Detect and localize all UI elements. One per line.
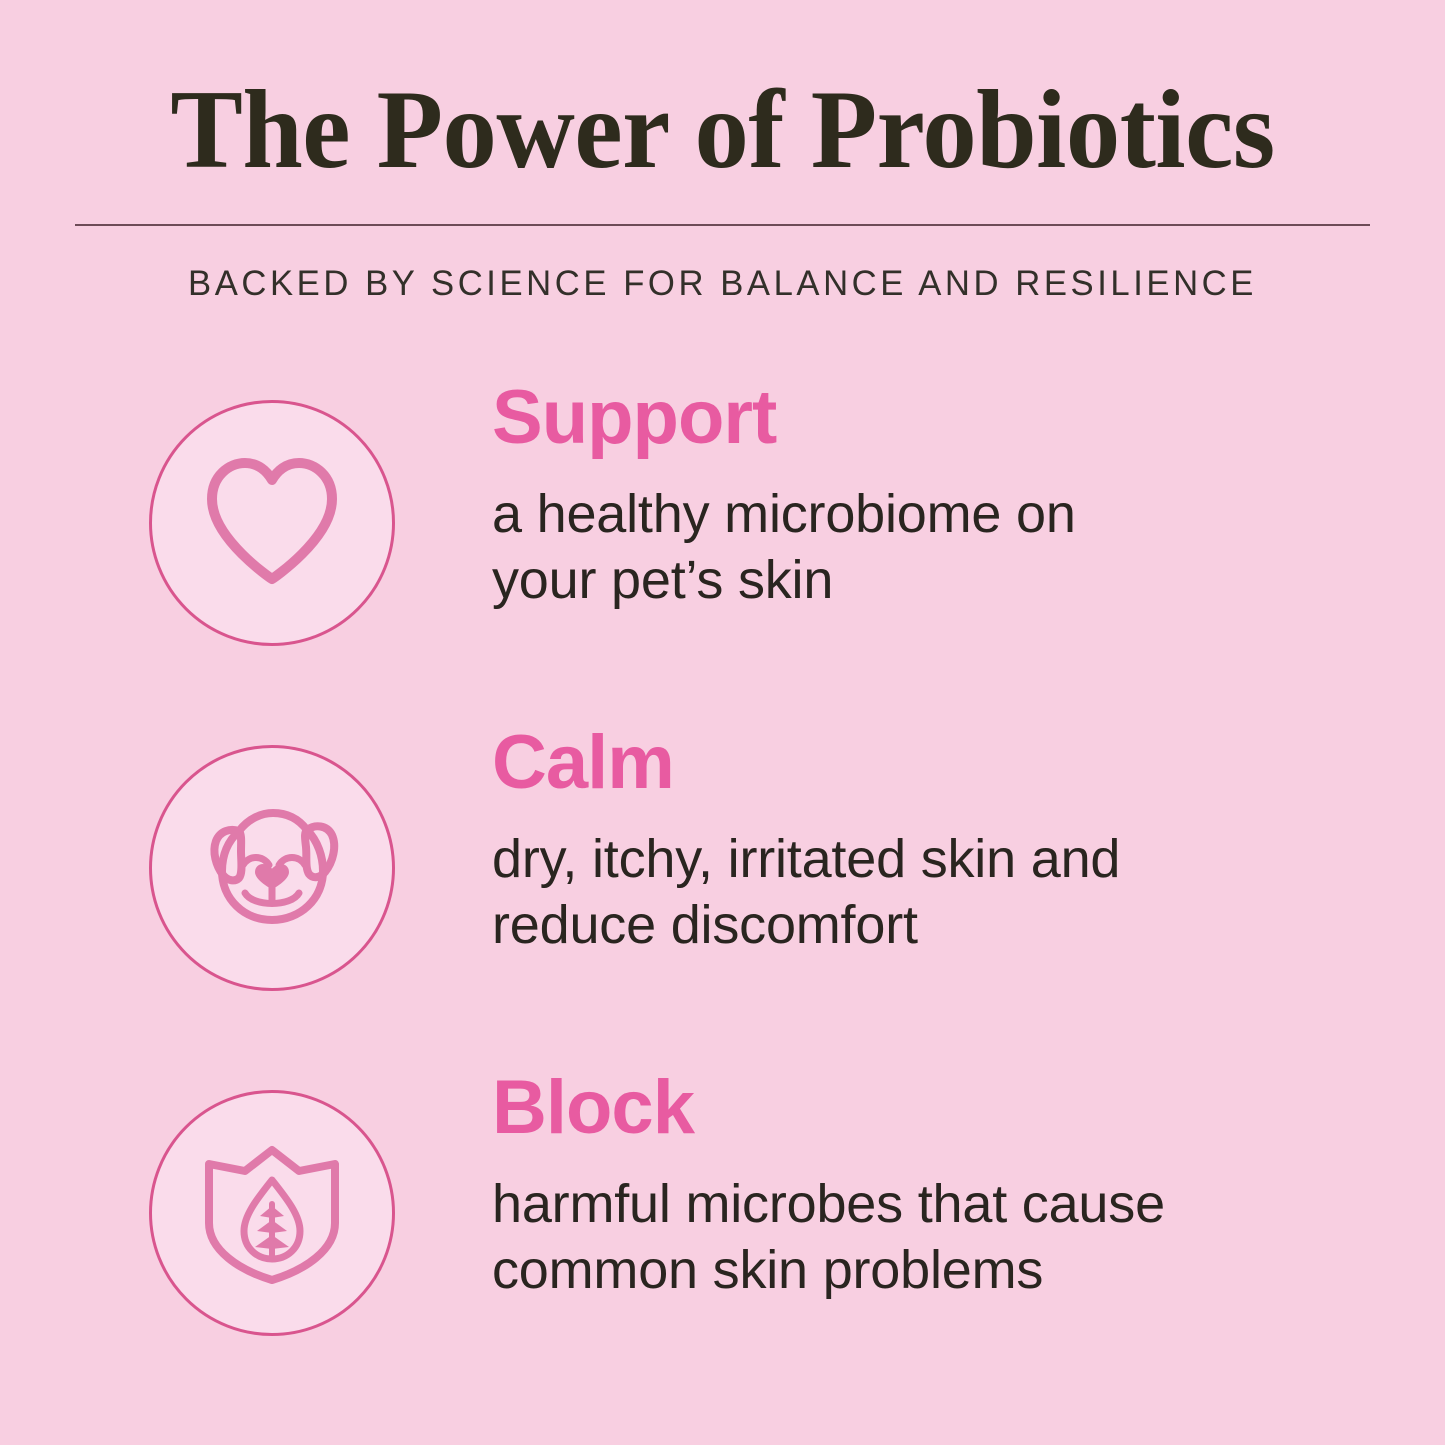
benefit-body-line: your pet’s skin — [492, 548, 1372, 614]
benefit-body-line: dry, itchy, irritated skin and — [492, 827, 1372, 893]
benefit-body-line: reduce discomfort — [492, 893, 1372, 959]
benefit-body: dry, itchy, irritated skin and reduce di… — [492, 827, 1372, 959]
shield-leaf-icon — [187, 1128, 357, 1298]
header-divider — [75, 224, 1370, 226]
header: The Power of Probiotics BACKED BY SCIENC… — [0, 0, 1445, 304]
heart-icon-badge — [149, 400, 395, 646]
benefit-heading: Support — [492, 380, 1372, 456]
benefit-heading: Block — [492, 1070, 1372, 1146]
benefit-text: Calm dry, itchy, irritated skin and redu… — [492, 725, 1372, 959]
benefit-list: Support a healthy microbiome on your pet… — [0, 380, 1445, 1415]
benefit-body-line: harmful microbes that cause — [492, 1172, 1372, 1238]
page-subtitle: BACKED BY SCIENCE FOR BALANCE AND RESILI… — [7, 264, 1438, 304]
dog-face-icon — [187, 783, 357, 953]
benefit-row: Calm dry, itchy, irritated skin and redu… — [0, 725, 1445, 1070]
dog-face-icon-badge — [149, 745, 395, 991]
benefit-text: Support a healthy microbiome on your pet… — [492, 380, 1372, 614]
benefit-row: Block harmful microbes that cause common… — [0, 1070, 1445, 1415]
fern-motif-icon — [255, 1206, 289, 1249]
benefit-heading: Calm — [492, 725, 1372, 801]
dog-nose-icon — [257, 866, 287, 887]
benefit-body-line: a healthy microbiome on — [492, 482, 1372, 548]
benefit-row: Support a healthy microbiome on your pet… — [0, 380, 1445, 725]
page-title: The Power of Probiotics — [22, 74, 1424, 186]
shield-leaf-icon-badge — [149, 1090, 395, 1336]
benefit-body-line: common skin problems — [492, 1238, 1372, 1304]
benefit-body: a healthy microbiome on your pet’s skin — [492, 482, 1372, 614]
benefit-body: harmful microbes that cause common skin … — [492, 1172, 1372, 1304]
heart-icon — [187, 438, 357, 608]
benefit-text: Block harmful microbes that cause common… — [492, 1070, 1372, 1304]
probiotics-infographic: The Power of Probiotics BACKED BY SCIENC… — [0, 0, 1445, 1445]
